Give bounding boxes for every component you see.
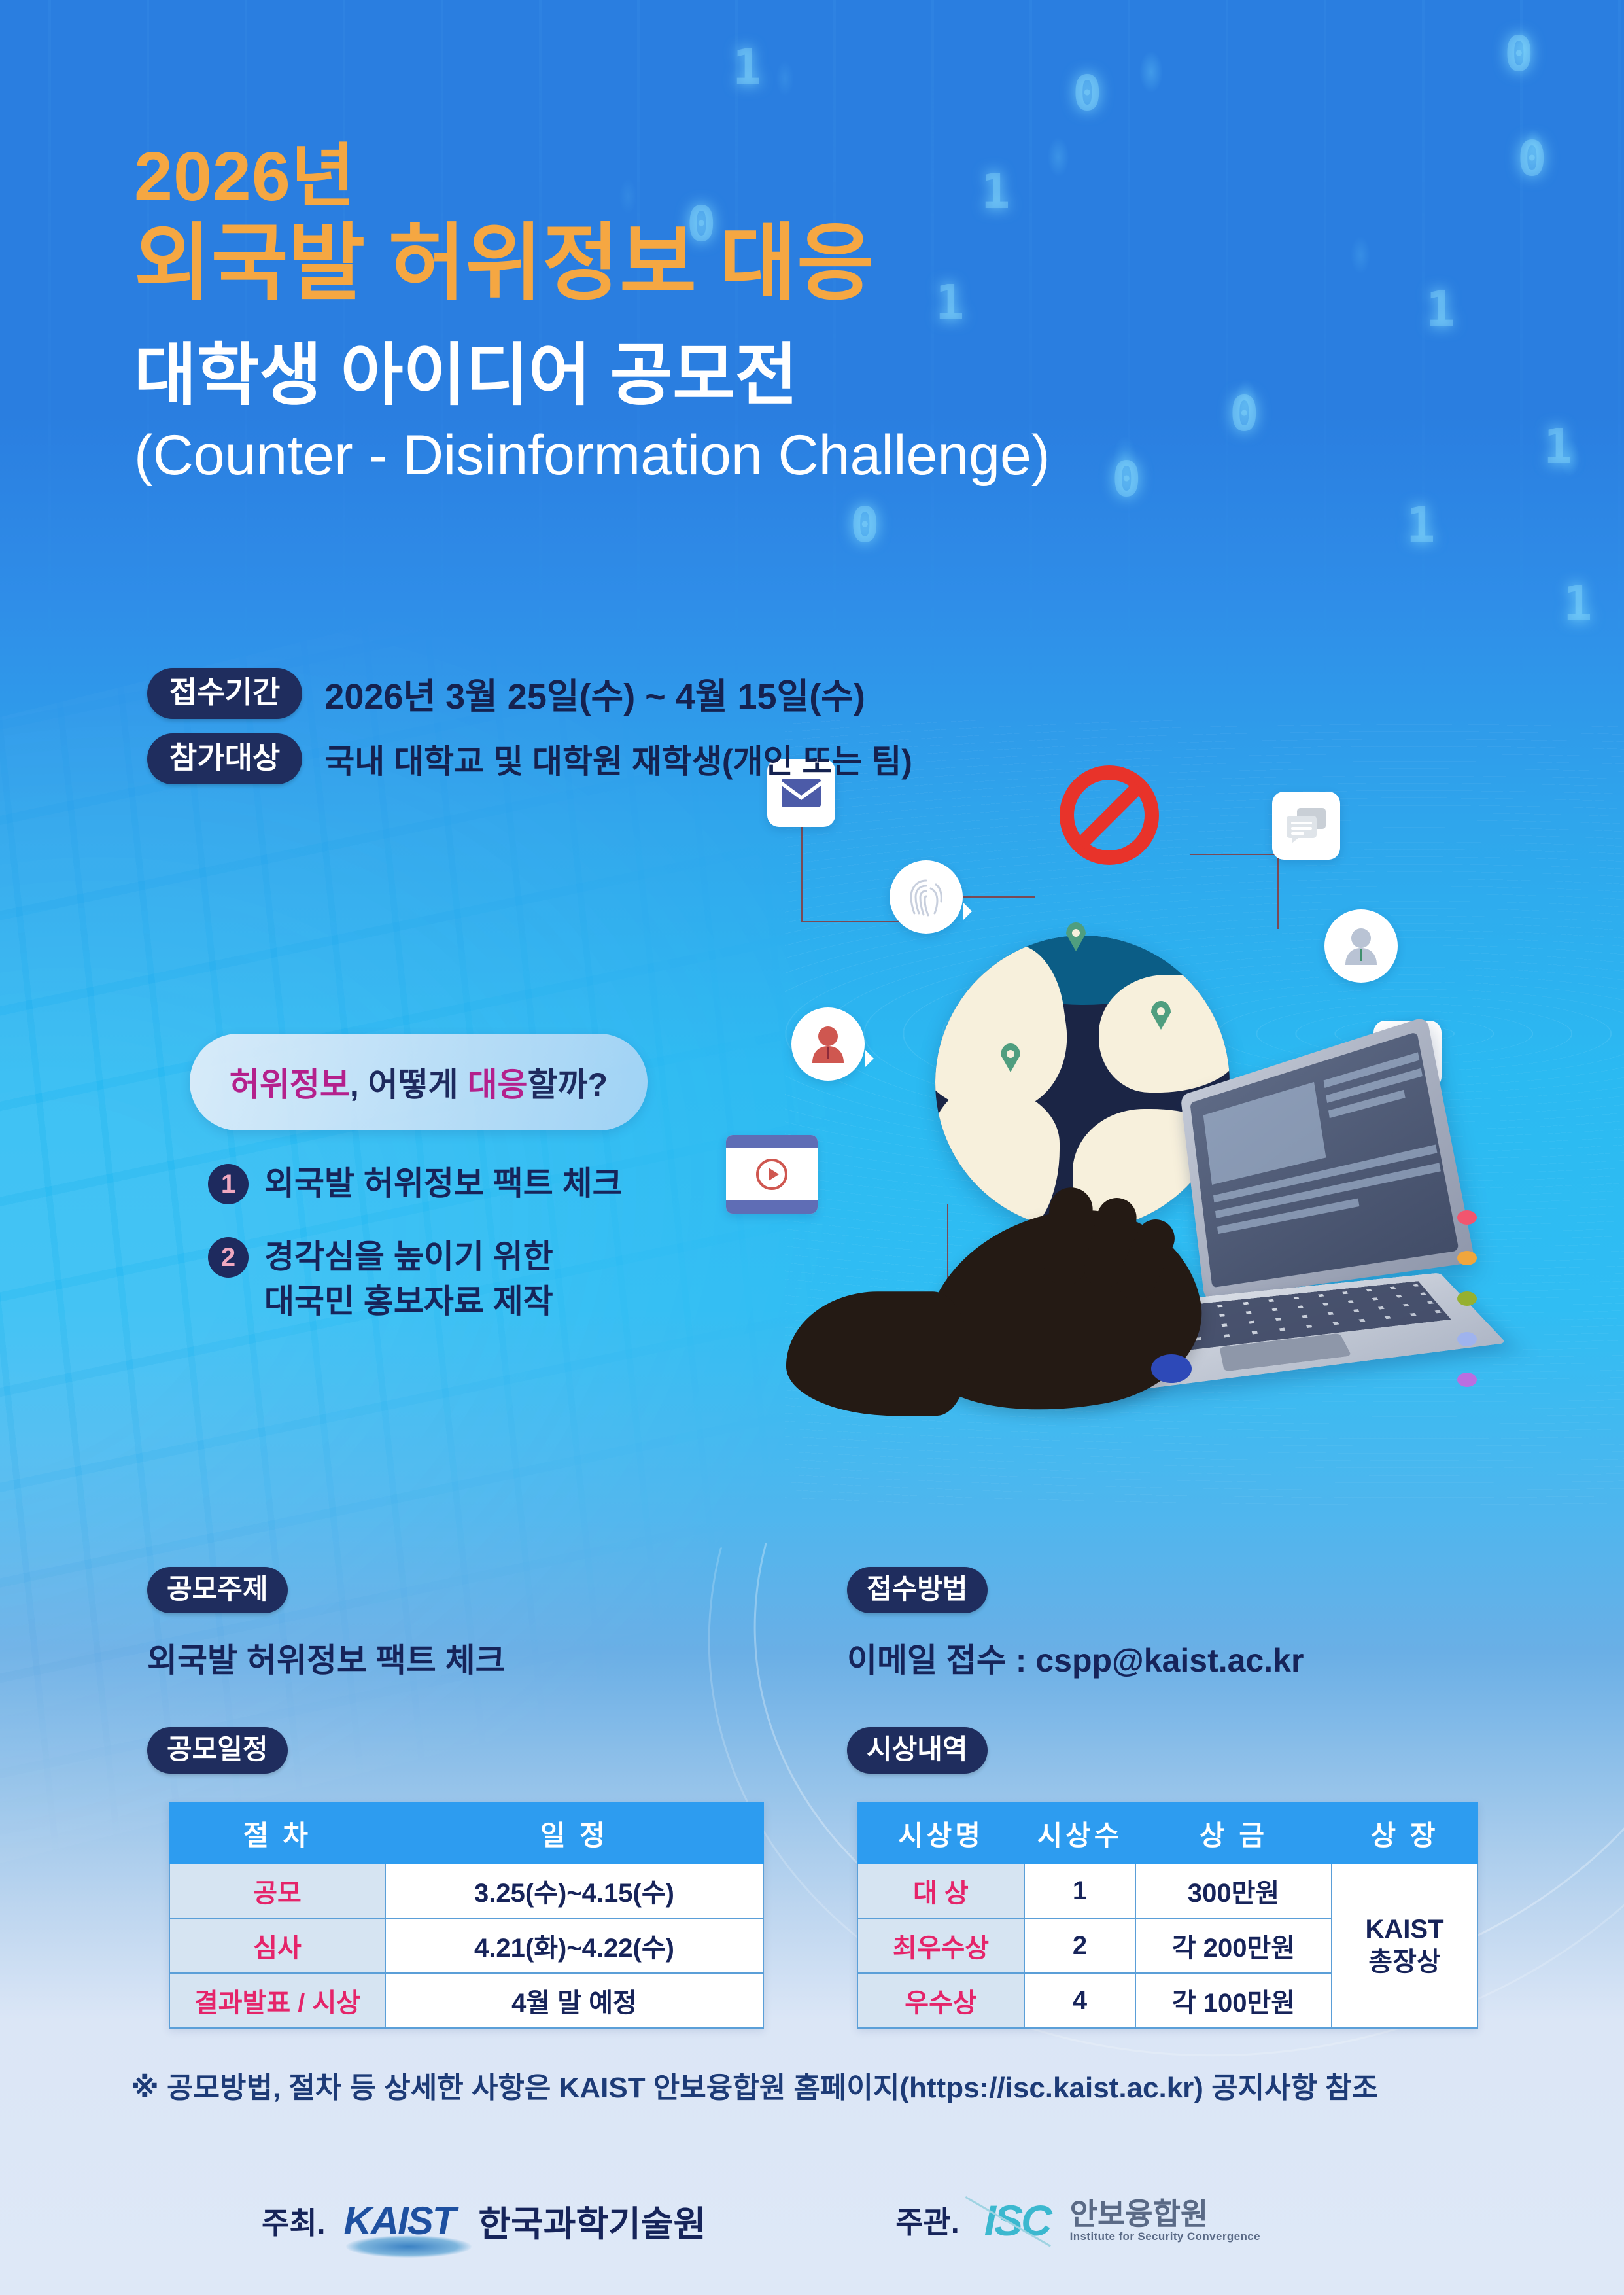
- numbered-list: 1 외국발 허위정보 팩트 체크 2 경각심을 높이기 위한 대국민 홍보자료 …: [208, 1161, 666, 1352]
- awards-header-name: 시상명: [857, 1803, 1024, 1863]
- awards-cell-name: 최우수상: [857, 1918, 1024, 1973]
- title-subtitle: 대학생 아이디어 공모전: [134, 338, 1050, 413]
- mouse-dot: [1151, 1354, 1192, 1383]
- awards-header-count: 시상수: [1024, 1803, 1135, 1863]
- table-row: 결과발표 / 시상 4월 말 예정: [169, 1973, 763, 2028]
- laptop-lid: [1181, 1016, 1476, 1300]
- section-label-awards: 시상내역: [847, 1727, 988, 1774]
- schedule-cell-step: 심사: [169, 1918, 385, 1973]
- awards-cell-prize: 300만원: [1135, 1863, 1332, 1918]
- kaist-swoosh-icon: [346, 2235, 472, 2258]
- list-number-badge: 2: [208, 1237, 249, 1278]
- section-apply: 접수방법 이메일 접수 : cspp@kaist.ac.kr: [847, 1567, 1304, 1681]
- question-part-highlight-1: 허위정보: [230, 1066, 350, 1103]
- poster-root: 01010101010101: [0, 0, 1624, 2295]
- meta-value-eligibility: 국내 대학교 및 대학원 재학생(개인 또는 팀): [324, 735, 912, 782]
- organizer-name-en: Institute for Security Convergence: [1070, 2230, 1260, 2243]
- list-item: 1 외국발 허위정보 팩트 체크: [208, 1161, 666, 1206]
- section-label-apply: 접수방법: [847, 1567, 988, 1613]
- footnote-text: ※ 공모방법, 절차 등 상세한 사항은 KAIST 안보융합원 홈페이지(ht…: [131, 2064, 1378, 2106]
- meta-row-period: 접수기간 2026년 3월 25일(수) ~ 4월 15일(수): [147, 667, 912, 719]
- organizer-name: 안보융합원: [1070, 2198, 1260, 2230]
- globe-landmass: [935, 1086, 1060, 1230]
- color-dots-decoration: [1457, 1210, 1477, 1413]
- schedule-cell-date: 4월 말 예정: [385, 1973, 763, 2028]
- question-banner: 허위정보, 어떻게 대응할까?: [190, 1034, 648, 1130]
- question-part-4: 할까?: [528, 1066, 608, 1103]
- meta-block: 접수기간 2026년 3월 25일(수) ~ 4월 15일(수) 참가대상 국내…: [147, 667, 912, 799]
- prohibition-icon: [1060, 765, 1159, 865]
- title-main: 외국발 허위정보 대응: [134, 219, 1050, 309]
- meta-row-eligibility: 참가대상 국내 대학교 및 대학원 재학생(개인 또는 팀): [147, 733, 912, 784]
- awards-table-wrap: 시상명 시상수 상 금 상 장 대 상 1 300만원 KAIST총장상 최우수…: [857, 1802, 1478, 2029]
- awards-table: 시상명 시상수 상 금 상 장 대 상 1 300만원 KAIST총장상 최우수…: [857, 1802, 1478, 2029]
- connector-line-chat: [1190, 854, 1279, 929]
- list-number-badge: 1: [208, 1164, 249, 1204]
- awards-cell-count: 1: [1024, 1863, 1135, 1918]
- awards-cell-name: 우수상: [857, 1973, 1024, 2028]
- awards-cell-count: 2: [1024, 1918, 1135, 1973]
- awards-header-certificate: 상 장: [1332, 1803, 1477, 1863]
- meta-value-period: 2026년 3월 25일(수) ~ 4월 15일(수): [324, 667, 865, 719]
- table-row: 심사 4.21(화)~4.22(수): [169, 1918, 763, 1973]
- schedule-cell-date: 3.25(수)~4.15(수): [385, 1863, 763, 1918]
- table-header-row: 시상명 시상수 상 금 상 장: [857, 1803, 1477, 1863]
- awards-cell-name: 대 상: [857, 1863, 1024, 1918]
- list-item-label: 외국발 허위정보 팩트 체크: [264, 1161, 623, 1206]
- table-row: 공모 3.25(수)~4.15(수): [169, 1863, 763, 1918]
- section-label-schedule: 공모일정: [147, 1727, 288, 1774]
- awards-cell-prize: 각 100만원: [1135, 1973, 1332, 2028]
- schedule-table: 절 차 일 정 공모 3.25(수)~4.15(수) 심사 4.21(화)~4.…: [169, 1802, 764, 2029]
- schedule-header-date: 일 정: [385, 1803, 763, 1863]
- awards-cell-prize: 각 200만원: [1135, 1918, 1332, 1973]
- question-part-highlight-2: 대응: [468, 1066, 528, 1103]
- table-header-row: 절 차 일 정: [169, 1803, 763, 1863]
- table-row: 대 상 1 300만원 KAIST총장상: [857, 1863, 1477, 1918]
- poster-footer: 주최. KAIST 한국과학기술원 주관. ISC 안보융합원 Institut…: [0, 2195, 1624, 2247]
- title-year: 2026년: [134, 141, 1050, 213]
- organizer-name-block: 안보융합원 Institute for Security Convergence: [1070, 2198, 1260, 2243]
- awards-cell-count: 4: [1024, 1973, 1135, 2028]
- question-part-2: , 어떻게: [350, 1066, 468, 1103]
- organizer-group: 주관. ISC 안보융합원 Institute for Security Con…: [895, 2198, 1260, 2243]
- connector-line-fingerprint: [950, 896, 1035, 898]
- video-play-icon: [726, 1135, 818, 1214]
- title-english: (Counter - Disinformation Challenge): [134, 425, 1050, 487]
- question-text: 허위정보, 어떻게 대응할까?: [230, 1059, 608, 1106]
- user-red-icon: [791, 1007, 865, 1081]
- fingerprint-icon: [890, 860, 963, 934]
- list-item-label: 경각심을 높이기 위한 대국민 홍보자료 제작: [264, 1235, 572, 1323]
- schedule-table-wrap: 절 차 일 정 공모 3.25(수)~4.15(수) 심사 4.21(화)~4.…: [169, 1802, 764, 2029]
- section-value-topic: 외국발 허위정보 팩트 체크: [147, 1634, 506, 1681]
- meta-label-eligibility: 참가대상: [147, 733, 302, 784]
- awards-cell-certificate: KAIST총장상: [1332, 1863, 1477, 2028]
- isc-logo: ISC: [978, 2199, 1050, 2242]
- connector-line-mail: [801, 824, 899, 922]
- schedule-cell-step: 결과발표 / 시상: [169, 1973, 385, 2028]
- schedule-cell-step: 공모: [169, 1863, 385, 1918]
- host-name: 한국과학기술원: [478, 2195, 706, 2247]
- section-schedule: 공모일정: [147, 1727, 288, 1774]
- schedule-header-step: 절 차: [169, 1803, 385, 1863]
- schedule-cell-date: 4.21(화)~4.22(수): [385, 1918, 763, 1973]
- section-topic: 공모주제 외국발 허위정보 팩트 체크: [147, 1567, 506, 1681]
- kaist-logo: KAIST 한국과학기술원: [343, 2195, 706, 2247]
- awards-header-prize: 상 금: [1135, 1803, 1332, 1863]
- host-group: 주최. KAIST 한국과학기술원: [262, 2195, 706, 2247]
- chat-icon: [1272, 792, 1340, 860]
- illustration: [693, 746, 1544, 1479]
- poster-header: 2026년 외국발 허위정보 대응 대학생 아이디어 공모전 (Counter …: [134, 141, 1050, 487]
- section-value-apply: 이메일 접수 : cspp@kaist.ac.kr: [847, 1634, 1304, 1681]
- section-awards: 시상내역: [847, 1727, 988, 1774]
- user-blue-icon: [1324, 909, 1398, 983]
- list-item: 2 경각심을 높이기 위한 대국민 홍보자료 제작: [208, 1235, 666, 1323]
- host-label: 주최.: [262, 2199, 325, 2243]
- laptop-screen: [1190, 1032, 1459, 1288]
- section-label-topic: 공모주제: [147, 1567, 288, 1613]
- kaist-wordmark: KAIST: [343, 2201, 455, 2241]
- meta-label-period: 접수기간: [147, 668, 302, 719]
